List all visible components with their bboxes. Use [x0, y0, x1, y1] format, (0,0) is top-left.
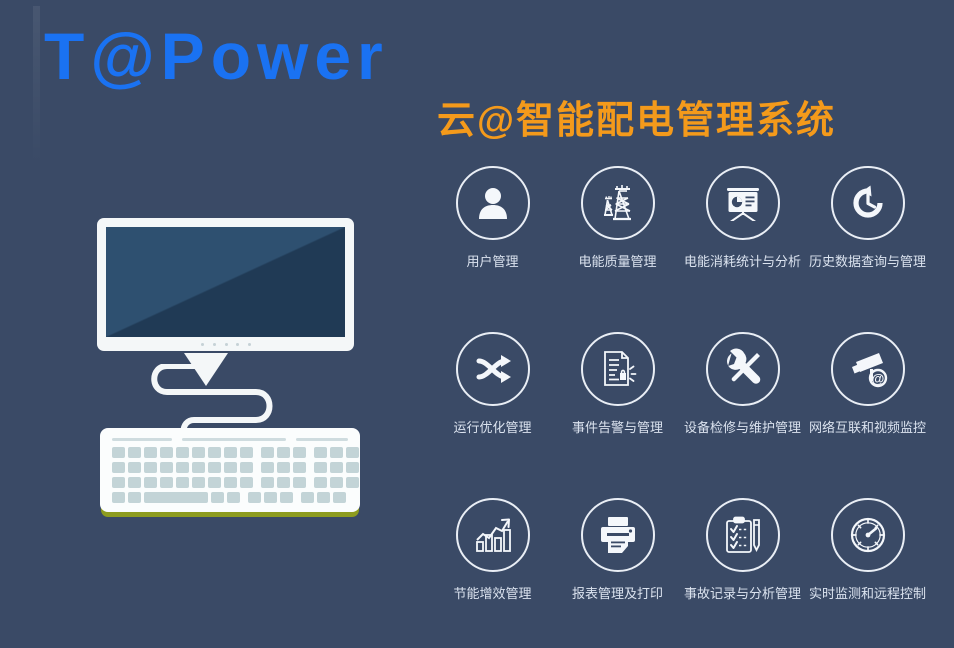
feature-label: 网络互联和视频监控 [809, 420, 926, 436]
feature-item-realtime-monitor[interactable]: 实时监测和远程控制 [805, 498, 930, 602]
presentation-chart-icon[interactable] [706, 166, 780, 240]
sub-title: 云@智能配电管理系统 [437, 98, 836, 144]
cctv-camera-at-icon[interactable]: @ [831, 332, 905, 406]
svg-text:@: @ [871, 371, 884, 386]
history-clock-icon[interactable] [831, 166, 905, 240]
feature-label: 历史数据查询与管理 [809, 254, 926, 270]
gauge-speedometer-icon[interactable] [831, 498, 905, 572]
feature-label: 实时监测和远程控制 [809, 586, 926, 602]
brand-title: T@Power [44, 16, 389, 96]
feature-label: 用户管理 [466, 254, 518, 270]
feature-label: 报表管理及打印 [572, 586, 663, 602]
feature-item-power-quality[interactable]: 电能质量管理 [555, 166, 680, 270]
feature-item-energy-saving[interactable]: 节能增效管理 [430, 498, 555, 602]
power-tower-icon[interactable] [581, 166, 655, 240]
growth-bar-chart-icon[interactable] [456, 498, 530, 572]
feature-label: 节能增效管理 [453, 586, 531, 602]
desktop-computer-illustration [80, 196, 380, 546]
feature-item-user-management[interactable]: 用户管理 [430, 166, 555, 270]
feature-item-maintenance[interactable]: 设备检修与维护管理 [680, 332, 805, 436]
keyboard-icon [100, 428, 360, 512]
document-alert-icon[interactable] [581, 332, 655, 406]
feature-item-video-surveillance[interactable]: @ 网络互联和视频监控 [805, 332, 930, 436]
feature-item-history-data[interactable]: 历史数据查询与管理 [805, 166, 930, 270]
shuffle-arrows-icon[interactable] [456, 332, 530, 406]
keyboard-top-bars [112, 438, 348, 441]
background-light-streak [33, 6, 40, 166]
wrench-screwdriver-icon[interactable] [706, 332, 780, 406]
feature-label: 运行优化管理 [453, 420, 531, 436]
feature-label: 设备检修与维护管理 [684, 420, 801, 436]
feature-item-consumption-analysis[interactable]: 电能消耗统计与分析 [680, 166, 805, 270]
monitor-frame-icon [97, 218, 354, 351]
feature-label: 事故记录与分析管理 [684, 586, 801, 602]
poster-canvas: T@Power 云@智能配电管理系统 [0, 0, 954, 648]
feature-label: 电能质量管理 [578, 254, 656, 270]
feature-item-incident-record[interactable]: 事故记录与分析管理 [680, 498, 805, 602]
user-icon[interactable] [456, 166, 530, 240]
feature-item-operation-optimization[interactable]: 运行优化管理 [430, 332, 555, 436]
feature-item-report-print[interactable]: 报表管理及打印 [555, 498, 680, 602]
feature-label: 电能消耗统计与分析 [684, 254, 801, 270]
feature-label: 事件告警与管理 [572, 420, 663, 436]
clipboard-checklist-pen-icon[interactable] [706, 498, 780, 572]
monitor-screen [106, 227, 345, 337]
keyboard-key-grid [112, 447, 348, 503]
printer-icon[interactable] [581, 498, 655, 572]
feature-icon-grid: 用户管理 [430, 166, 930, 602]
feature-item-event-alarm[interactable]: 事件告警与管理 [555, 332, 680, 436]
monitor-indicator-dots [201, 342, 251, 346]
